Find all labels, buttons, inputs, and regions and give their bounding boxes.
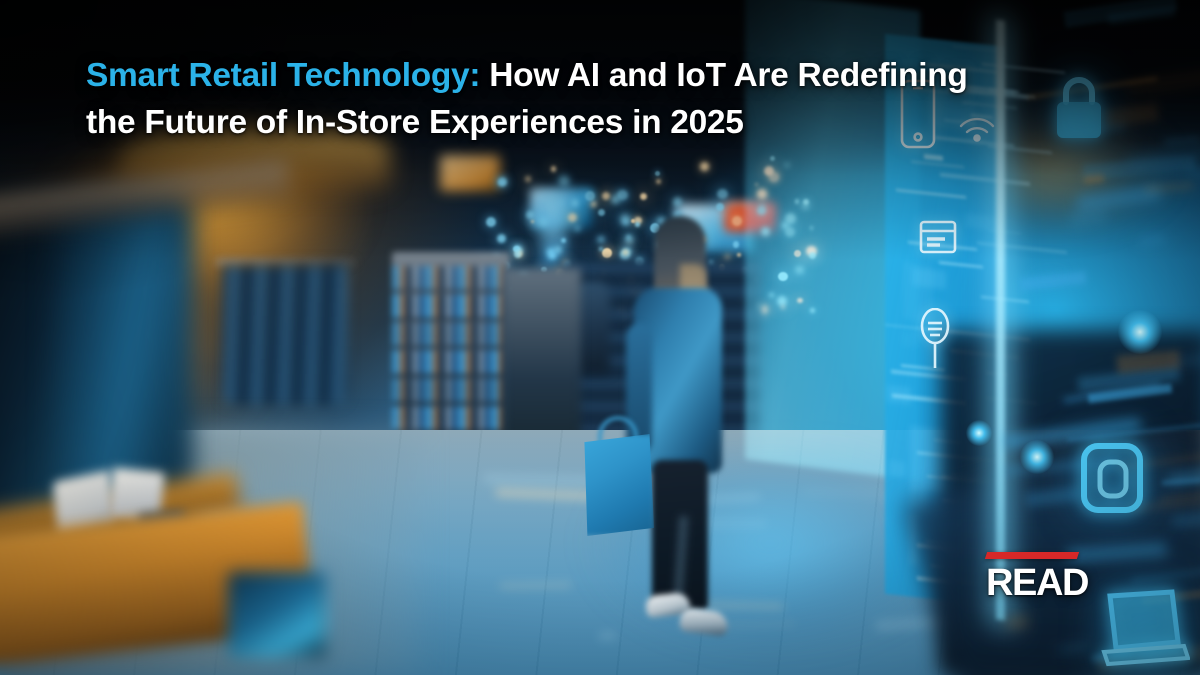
- banner-image: Smart Retail Technology: How AI and IoT …: [0, 0, 1200, 675]
- read-logo[interactable]: READ: [986, 552, 1078, 604]
- logo-red-bar: [985, 552, 1079, 559]
- title-line-2: the Future of In-Store Experiences in 20…: [86, 99, 1096, 146]
- title-accent-text: Smart Retail Technology:: [86, 57, 480, 94]
- title-line-1: Smart Retail Technology: How AI and IoT …: [86, 52, 1096, 99]
- logo-text: READ: [986, 562, 1078, 604]
- title-line-1-rest: How AI and IoT Are Redefining: [480, 57, 967, 94]
- banner-title: Smart Retail Technology: How AI and IoT …: [86, 52, 1096, 146]
